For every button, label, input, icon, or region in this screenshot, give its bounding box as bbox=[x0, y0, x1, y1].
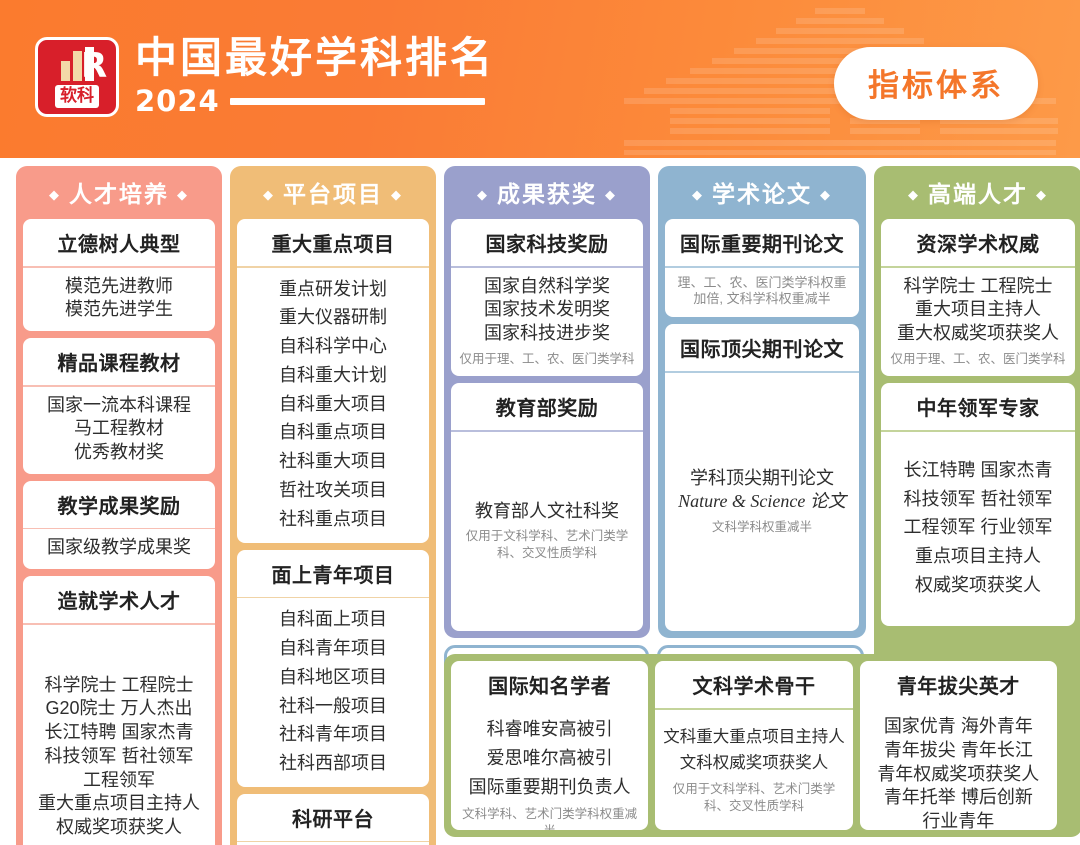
card-title: 国际顶尖期刊论文 bbox=[665, 324, 859, 371]
list-item: 哲社攻关项目 bbox=[241, 476, 425, 505]
card-body: 文科重大重点项目主持人 文科权威奖项获奖人 仅用于文科学科、艺术门类学科、交叉性… bbox=[655, 710, 852, 831]
list-item: 模范先进学生 bbox=[27, 298, 211, 322]
card-title: 立德树人典型 bbox=[23, 219, 215, 266]
card-title: 教育部奖励 bbox=[451, 383, 643, 430]
list-item: 社科西部项目 bbox=[241, 749, 425, 778]
card-body: 教育部人文社科奖 仅用于文科学科、艺术门类学科、交叉性质学科 bbox=[451, 432, 643, 632]
card-body: 学科顶尖期刊论文 Nature & Science 论文 文科学科权重减半 bbox=[665, 373, 859, 631]
letter-r-icon: R bbox=[81, 49, 105, 83]
list-item: 长江特聘 国家杰青 bbox=[885, 456, 1071, 485]
list-item: 马工程教材 bbox=[27, 417, 211, 441]
list-item: 社科重大项目 bbox=[241, 447, 425, 476]
list-item: 青年托举 博后创新 bbox=[864, 786, 1053, 810]
list-item: 重大重点项目主持人 bbox=[27, 792, 211, 816]
diamond-icon: ◆ bbox=[908, 187, 920, 202]
list-item: 科技领军 哲社领军 bbox=[27, 745, 211, 769]
card-jingpin-kecheng[interactable]: 精品课程教材 国家一流本科课程 马工程教材 优秀教材奖 bbox=[23, 338, 215, 474]
shanghairanking-logo: R 软科 bbox=[35, 37, 119, 117]
diamond-icon: ◆ bbox=[605, 187, 617, 202]
list-item: 自科重大计划 bbox=[241, 361, 425, 390]
card-title: 国际重要期刊论文 bbox=[665, 219, 859, 266]
card-body: 重点研发计划 重大仪器研制 自科科学中心 自科重大计划 自科重大项目 自科重点项… bbox=[237, 268, 429, 543]
column-title: 成果获奖 bbox=[497, 181, 597, 207]
page-header: R 软科 中国最好学科排名 2024 指标体系 bbox=[0, 0, 1080, 158]
list-item: Nature & Science 论文 bbox=[669, 490, 855, 514]
edition-year: 2024 bbox=[135, 84, 220, 118]
card-guoji-dingjian-qikan-lunwen[interactable]: 国际顶尖期刊论文 学科顶尖期刊论文 Nature & Science 论文 文科… bbox=[665, 324, 859, 631]
list-item: 社科一般项目 bbox=[241, 692, 425, 721]
card-title: 资深学术权威 bbox=[881, 219, 1075, 266]
card-title: 国际知名学者 bbox=[451, 661, 648, 708]
card-note: 文科学科、艺术门类学科权重减半 bbox=[455, 806, 644, 830]
card-note: 仅用于理、工、农、医门类学科 bbox=[885, 351, 1071, 367]
card-body: 科学院士 工程院士 重大项目主持人 重大权威奖项获奖人 仅用于理、工、农、医门类… bbox=[881, 268, 1075, 377]
card-title: 青年拔尖英才 bbox=[860, 661, 1057, 708]
card-body: 国家自然科学奖 国家技术发明奖 国家科技进步奖 仅用于理、工、农、医门类学科 bbox=[451, 268, 643, 377]
list-item: 自科地区项目 bbox=[241, 663, 425, 692]
card-body: 国家级教学成果奖 bbox=[23, 529, 215, 569]
card-title: 造就学术人才 bbox=[23, 576, 215, 623]
card-note: 仅用于理、工、农、医门类学科 bbox=[455, 351, 639, 367]
list-item: 重点研发计划 bbox=[241, 275, 425, 304]
diamond-icon: ◆ bbox=[263, 187, 275, 202]
diamond-icon: ◆ bbox=[692, 187, 704, 202]
column-achievement-awards: ◆成果获奖◆ 国家科技奖励 国家自然科学奖 国家技术发明奖 国家科技进步奖 仅用… bbox=[444, 166, 650, 638]
page-title: 中国最好学科排名 bbox=[135, 36, 495, 80]
list-item: 自科重大项目 bbox=[241, 390, 425, 419]
card-body: 长江特聘 国家杰青 科技领军 哲社领军 工程领军 行业领军 重点项目主持人 权威… bbox=[881, 432, 1075, 627]
list-item: 科学院士 工程院士 bbox=[27, 674, 211, 698]
card-lideshuren[interactable]: 立德树人典型 模范先进教师 模范先进学生 bbox=[23, 219, 215, 331]
brand-logo-text: 软科 bbox=[55, 85, 99, 108]
list-item: 模范先进教师 bbox=[27, 275, 211, 299]
list-item: 自科面上项目 bbox=[241, 605, 425, 634]
card-mianshang-qingnian-xiangmu[interactable]: 面上青年项目 自科面上项目 自科青年项目 自科地区项目 社科一般项目 社科青年项… bbox=[237, 550, 429, 787]
card-title: 中年领军专家 bbox=[881, 383, 1075, 430]
list-item: 国家科技进步奖 bbox=[455, 322, 639, 346]
list-item: 行业青年 bbox=[864, 810, 1053, 830]
list-item: 青年权威奖项获奖人 bbox=[864, 763, 1053, 787]
card-guoji-zhiming-xuezhe[interactable]: 国际知名学者 科睿唯安高被引 爱思唯尔高被引 国际重要期刊负责人 文科学科、艺术… bbox=[451, 661, 648, 830]
list-item: 社科青年项目 bbox=[241, 720, 425, 749]
card-qingnian-bajian-yingcai[interactable]: 青年拔尖英才 国家优青 海外青年 青年拔尖 青年长江 青年权威奖项获奖人 青年托… bbox=[860, 661, 1057, 830]
column-title: 学术论文 bbox=[712, 181, 812, 207]
title-block: 中国最好学科排名 2024 bbox=[135, 36, 495, 118]
list-item: 工程领军 行业领军 bbox=[885, 513, 1071, 542]
list-item: 文科权威奖项获奖人 bbox=[659, 750, 848, 776]
card-title: 面上青年项目 bbox=[237, 550, 429, 597]
card-body: 模范先进教师 模范先进学生 bbox=[23, 268, 215, 332]
list-item: 青年拔尖 青年长江 bbox=[864, 739, 1053, 763]
card-body: 国家优青 海外青年 青年拔尖 青年长江 青年权威奖项获奖人 青年托举 博后创新 … bbox=[860, 708, 1057, 830]
card-title: 文科学术骨干 bbox=[655, 661, 852, 708]
card-zaojiu-xueshu-rencai[interactable]: 造就学术人才 科学院士 工程院士 G20院士 万人杰出 长江特聘 国家杰青 科技… bbox=[23, 576, 215, 845]
list-item: 自科青年项目 bbox=[241, 634, 425, 663]
card-body: 自科面上项目 自科青年项目 自科地区项目 社科一般项目 社科青年项目 社科西部项… bbox=[237, 598, 429, 787]
list-item: 自科科学中心 bbox=[241, 332, 425, 361]
card-note: 仅用于文科学科、艺术门类学科、交叉性质学科 bbox=[659, 781, 848, 814]
list-item: 国际重要期刊负责人 bbox=[455, 773, 644, 802]
diamond-icon: ◆ bbox=[1036, 187, 1048, 202]
list-item: 国家一流本科课程 bbox=[27, 394, 211, 418]
list-item: 重大权威奖项获奖人 bbox=[885, 322, 1071, 346]
column-academic-papers: ◆学术论文◆ 国际重要期刊论文 理、工、农、医门类学科权重加倍, 文科学科权重减… bbox=[658, 166, 866, 638]
list-item: 重大项目主持人 bbox=[885, 298, 1071, 322]
list-item: G20院士 万人杰出 bbox=[27, 697, 211, 721]
list-item: 国家优青 海外青年 bbox=[864, 715, 1053, 739]
list-item: 学科顶尖期刊论文 bbox=[669, 467, 855, 491]
list-item: 重点项目主持人 bbox=[885, 542, 1071, 571]
diamond-icon: ◆ bbox=[177, 187, 189, 202]
card-jiaoyubu-jiangli[interactable]: 教育部奖励 教育部人文社科奖 仅用于文科学科、艺术门类学科、交叉性质学科 bbox=[451, 383, 643, 631]
list-item: 国家技术发明奖 bbox=[455, 298, 639, 322]
green-bottom-band: 国际知名学者 科睿唯安高被引 爱思唯尔高被引 国际重要期刊负责人 文科学科、艺术… bbox=[444, 654, 1064, 837]
list-item: 权威奖项获奖人 bbox=[27, 816, 211, 840]
card-wenke-xueshu-gugan[interactable]: 文科学术骨干 文科重大重点项目主持人 文科权威奖项获奖人 仅用于文科学科、艺术门… bbox=[655, 661, 852, 830]
diamond-icon: ◆ bbox=[49, 187, 61, 202]
card-body: 科学院士 工程院士 G20院士 万人杰出 长江特聘 国家杰青 科技领军 哲社领军… bbox=[23, 625, 215, 845]
card-guojia-keji-jiangli[interactable]: 国家科技奖励 国家自然科学奖 国家技术发明奖 国家科技进步奖 仅用于理、工、农、… bbox=[451, 219, 643, 376]
list-item: 自科重点项目 bbox=[241, 418, 425, 447]
indicator-system-badge: 指标体系 bbox=[834, 47, 1038, 120]
column-header-academic-papers: ◆学术论文◆ bbox=[665, 166, 859, 219]
column-header-achievement-awards: ◆成果获奖◆ bbox=[451, 166, 643, 219]
column-title: 高端人才 bbox=[928, 181, 1028, 207]
column-talent-cultivation: ◆人才培养◆ 立德树人典型 模范先进教师 模范先进学生 精品课程教材 国家一流本… bbox=[16, 166, 222, 845]
diamond-icon: ◆ bbox=[391, 187, 403, 202]
column-title: 人才培养 bbox=[69, 181, 169, 207]
list-item: 重大仪器研制 bbox=[241, 303, 425, 332]
title-rule bbox=[230, 98, 485, 105]
list-item: 国家自然科学奖 bbox=[455, 275, 639, 299]
card-zhongnian-lingjun-zhuanjia[interactable]: 中年领军专家 长江特聘 国家杰青 科技领军 哲社领军 工程领军 行业领军 重点项… bbox=[881, 383, 1075, 626]
card-guoji-zhongyao-qikan-lunwen[interactable]: 国际重要期刊论文 理、工、农、医门类学科权重加倍, 文科学科权重减半 bbox=[665, 219, 859, 317]
card-keyan-pingtai[interactable]: 科研平台 文科学科、艺术门类学科权重减半 bbox=[237, 794, 429, 845]
card-title: 重大重点项目 bbox=[237, 219, 429, 266]
title-subrow: 2024 bbox=[135, 84, 495, 118]
list-item: 权威奖项获奖人 bbox=[885, 571, 1071, 600]
list-item: 教育部人文社科奖 bbox=[455, 500, 639, 524]
card-body: 理、工、农、医门类学科权重加倍, 文科学科权重减半 bbox=[665, 268, 859, 318]
card-zishen-xueshu-quanwei[interactable]: 资深学术权威 科学院士 工程院士 重大项目主持人 重大权威奖项获奖人 仅用于理、… bbox=[881, 219, 1075, 376]
card-note: 理、工、农、医门类学科权重加倍, 文科学科权重减半 bbox=[669, 275, 855, 309]
list-item: 爱思唯尔高被引 bbox=[455, 744, 644, 773]
list-item: 科学院士 工程院士 bbox=[885, 275, 1071, 299]
card-body: 科睿唯安高被引 爱思唯尔高被引 国际重要期刊负责人 文科学科、艺术门类学科权重减… bbox=[451, 708, 648, 830]
list-item: 科技领军 哲社领军 bbox=[885, 485, 1071, 514]
card-title: 科研平台 bbox=[237, 794, 429, 841]
list-item: 长江特聘 国家杰青 bbox=[27, 721, 211, 745]
card-note: 文科学科权重减半 bbox=[669, 519, 855, 535]
brand-lockup: R 软科 中国最好学科排名 2024 bbox=[35, 36, 495, 118]
diamond-icon: ◆ bbox=[820, 187, 832, 202]
card-jiaoxue-chengguo[interactable]: 教学成果奖励 国家级教学成果奖 bbox=[23, 481, 215, 569]
indicator-columns: ◆人才培养◆ 立德树人典型 模范先进教师 模范先进学生 精品课程教材 国家一流本… bbox=[16, 166, 1064, 837]
card-title: 精品课程教材 bbox=[23, 338, 215, 385]
card-title: 教学成果奖励 bbox=[23, 481, 215, 528]
column-title: 平台项目 bbox=[283, 181, 383, 207]
column-header-top-talent: ◆高端人才◆ bbox=[881, 166, 1075, 219]
column-platform-projects: ◆平台项目◆ 重大重点项目 重点研发计划 重大仪器研制 自科科学中心 自科重大计… bbox=[230, 166, 436, 845]
card-note: 仅用于文科学科、艺术门类学科、交叉性质学科 bbox=[455, 528, 639, 561]
column-header-platform-projects: ◆平台项目◆ bbox=[237, 166, 429, 219]
column-header-talent-cultivation: ◆人才培养◆ bbox=[23, 166, 215, 219]
list-item: 科睿唯安高被引 bbox=[455, 715, 644, 744]
card-body: 国家一流本科课程 马工程教材 优秀教材奖 bbox=[23, 387, 215, 474]
list-item: 社科重点项目 bbox=[241, 505, 425, 534]
list-item: 文科重大重点项目主持人 bbox=[659, 724, 848, 750]
list-item: 优秀教材奖 bbox=[27, 441, 211, 465]
list-item: 国家级教学成果奖 bbox=[27, 536, 211, 560]
card-zhongda-zhongdian-xiangmu[interactable]: 重大重点项目 重点研发计划 重大仪器研制 自科科学中心 自科重大计划 自科重大项… bbox=[237, 219, 429, 543]
diamond-icon: ◆ bbox=[477, 187, 489, 202]
indicator-board: ◆人才培养◆ 立德树人典型 模范先进教师 模范先进学生 精品课程教材 国家一流本… bbox=[0, 158, 1080, 845]
card-title: 国家科技奖励 bbox=[451, 219, 643, 266]
list-item: 工程领军 bbox=[27, 769, 211, 793]
